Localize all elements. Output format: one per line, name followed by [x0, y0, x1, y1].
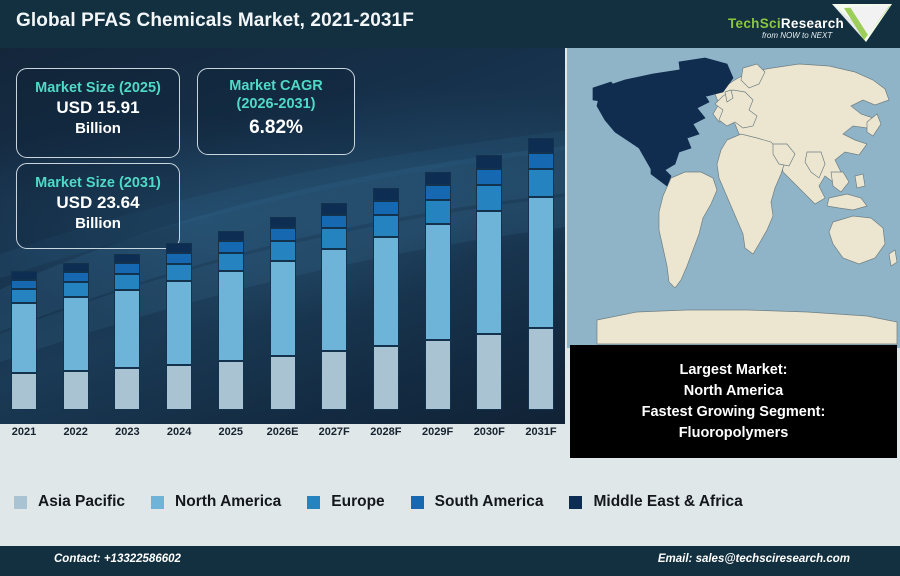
callout-largest-market-label: Largest Market: — [680, 360, 788, 381]
legend-item-north-america[interactable]: North America — [151, 493, 281, 511]
header-bar: Global PFAS Chemicals Market, 2021-2031F… — [0, 0, 900, 48]
legend-label: South America — [435, 493, 544, 511]
legend-item-south-america[interactable]: South America — [411, 493, 544, 511]
callout-largest-market-value: North America — [684, 381, 783, 402]
map-land-philippines — [855, 174, 865, 188]
logo-brand-research: Research — [781, 16, 844, 31]
legend-swatch-icon — [569, 496, 582, 509]
footer-contact: Contact: +13322586602 — [54, 553, 181, 565]
chart-legend: Asia PacificNorth AmericaEuropeSouth Ame… — [0, 458, 900, 546]
callout-box: Largest Market: North America Fastest Gr… — [570, 345, 897, 458]
legend-item-middle-east-africa[interactable]: Middle East & Africa — [569, 493, 742, 511]
legend-label: North America — [175, 493, 281, 511]
legend-label: Asia Pacific — [38, 493, 125, 511]
logo-wordmark: TechSciResearch — [728, 16, 878, 31]
callout-fastest-segment-label: Fastest Growing Segment: — [642, 402, 826, 423]
legend-item-europe[interactable]: Europe — [307, 493, 384, 511]
page-title: Global PFAS Chemicals Market, 2021-2031F — [16, 10, 414, 32]
stacked-bar-chart: 202120222023202420252026E2027F2028F2029F… — [0, 48, 565, 458]
callout-fastest-segment-value: Fluoropolymers — [679, 423, 789, 444]
techsci-logo: TechSciResearch from NOW to NEXT — [714, 2, 894, 46]
logo-brand-tech: TechSci — [728, 16, 781, 31]
logo-tagline: from NOW to NEXT — [762, 31, 832, 40]
legend-label: Europe — [331, 493, 384, 511]
legend-swatch-icon — [411, 496, 424, 509]
world-map — [567, 48, 900, 348]
legend-swatch-icon — [151, 496, 164, 509]
legend-swatch-icon — [307, 496, 320, 509]
legend-items: Asia PacificNorth AmericaEuropeSouth Ame… — [0, 493, 900, 511]
map-land-antarctica — [597, 310, 897, 344]
footer-email: Email: sales@techsciresearch.com — [658, 553, 850, 565]
world-map-svg — [567, 48, 900, 348]
legend-label: Middle East & Africa — [593, 493, 742, 511]
infographic-root: Global PFAS Chemicals Market, 2021-2031F… — [0, 0, 900, 576]
x-axis-tick-label: 2031F — [511, 426, 571, 438]
footer-bar: Contact: +13322586602 Email: sales@techs… — [0, 546, 900, 576]
x-axis-labels: 202120222023202420252026E2027F2028F2029F… — [0, 48, 565, 458]
legend-item-asia-pacific[interactable]: Asia Pacific — [14, 493, 125, 511]
legend-swatch-icon — [14, 496, 27, 509]
